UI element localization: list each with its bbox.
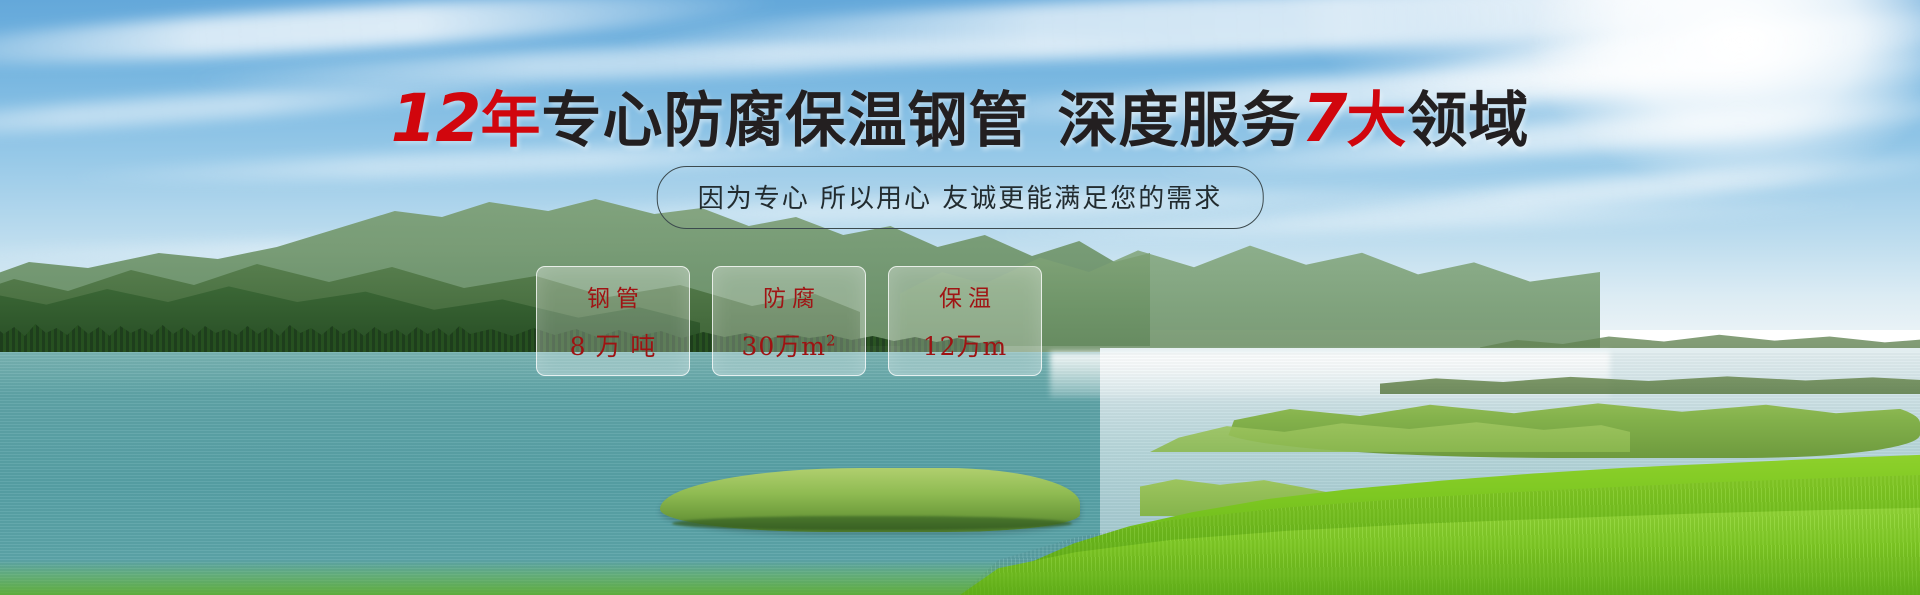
stat-value-superscript: 2 [826,332,837,350]
headline-emphasis-number: 7 [1301,80,1346,157]
stat-card-value: 30万m2 [741,327,836,363]
headline-segment-3: 领域 [1407,86,1529,156]
stat-value-text: 8 万 吨 [570,332,657,361]
grass-bottom-edge [0,560,1920,595]
headline-segment-2: 深度服务 [1057,86,1301,156]
stat-card-value: 12万m [923,327,1008,363]
stat-value-text: 30万m [741,332,826,361]
stat-card-insulation[interactable]: 保温 12万m [888,266,1042,376]
headline-emphasis-unit: 大 [1346,86,1407,156]
stat-value-text: 12万m [923,332,1008,361]
stat-card-group: 钢管 8 万 吨 防腐 30万m2 保温 12万m [536,266,1042,376]
subtitle-pill: 因为专心 所以用心 友诚更能满足您的需求 [657,166,1264,229]
promo-banner: 12年专心防腐保温钢管深度服务7大领域 因为专心 所以用心 友诚更能满足您的需求… [0,0,1920,595]
stat-card-value: 8 万 吨 [570,327,657,363]
island-shoreline [672,516,1072,530]
stat-card-steel-pipe[interactable]: 钢管 8 万 吨 [536,266,690,376]
stat-card-label: 保温 [933,279,997,313]
headline-segment-1: 专心防腐保温钢管 [541,86,1029,156]
stat-card-anticorrosion[interactable]: 防腐 30万m2 [712,266,866,376]
headline-years-unit: 年 [480,86,541,156]
stat-card-label: 防腐 [757,279,821,313]
headline: 12年专心防腐保温钢管深度服务7大领域 [0,86,1920,152]
headline-years-number: 12 [391,80,481,157]
stat-card-label: 钢管 [581,279,645,313]
